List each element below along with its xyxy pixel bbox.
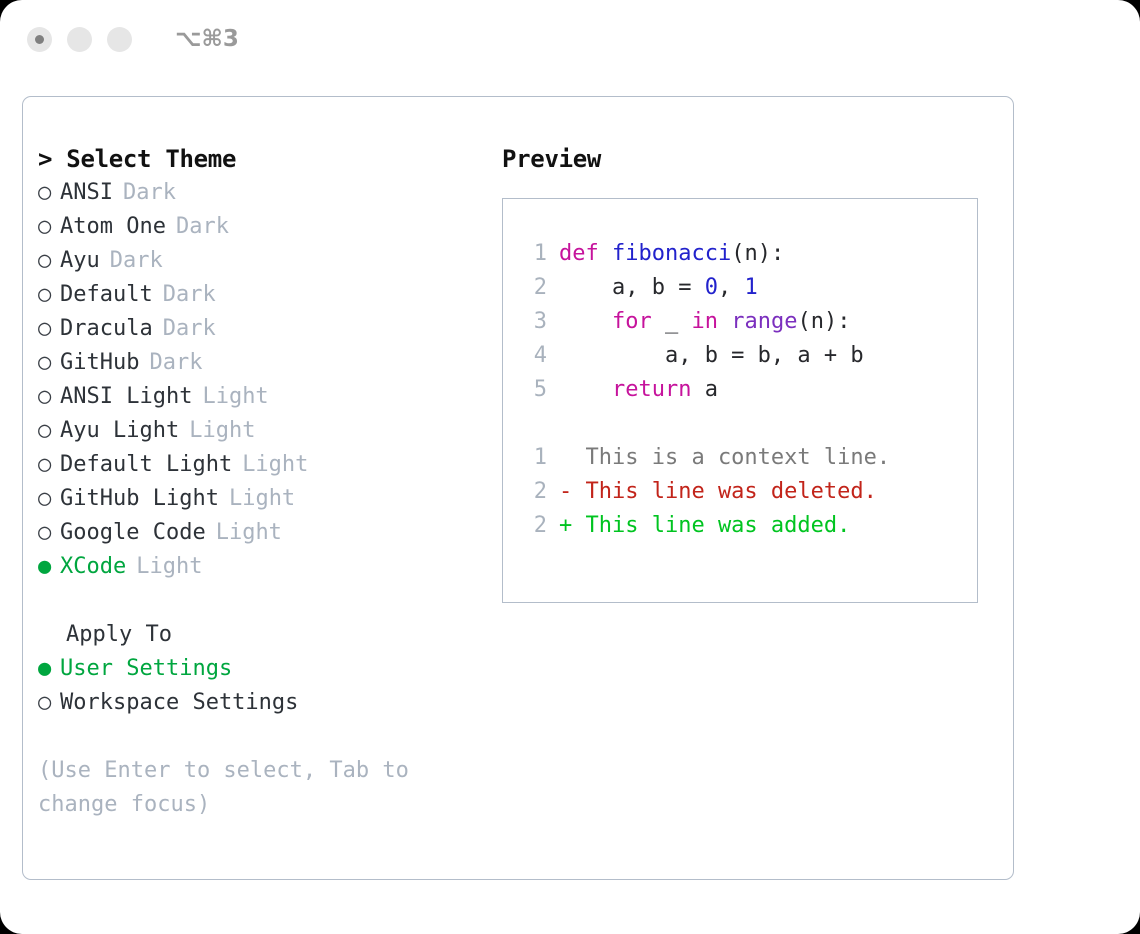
theme-option-label: Google Code	[60, 516, 206, 550]
terminal-window: ⌥⌘3 > Select Theme ○ANSIDark○Atom OneDar…	[0, 0, 1140, 934]
theme-option-label: Atom One	[60, 210, 166, 244]
code-line-text: return a	[559, 373, 718, 407]
code-token-kw: return	[612, 377, 691, 402]
section-spacer	[38, 584, 488, 618]
theme-variant-badge: Dark	[110, 244, 163, 278]
code-line: 5 return a	[521, 373, 977, 407]
code-line-number: 4	[521, 339, 547, 373]
code-token-pl	[559, 377, 612, 402]
code-line: 2 a, b = 0, 1	[521, 271, 977, 305]
code-token-pl	[718, 309, 731, 334]
theme-variant-badge: Light	[216, 516, 282, 550]
code-line-number: 3	[521, 305, 547, 339]
apply-to-option-user-settings[interactable]: ●User Settings	[38, 652, 488, 686]
theme-variant-badge: Light	[136, 550, 202, 584]
theme-option-default-light[interactable]: ○Default LightLight	[38, 448, 488, 482]
theme-option-label: ANSI Light	[60, 380, 192, 414]
theme-option-xcode[interactable]: ●XCodeLight	[38, 550, 488, 584]
diff-line-text: + This line was added.	[559, 509, 850, 543]
apply-to-option-label: Workspace Settings	[60, 686, 298, 720]
code-token-pl: a, b =	[559, 275, 705, 300]
code-line-text: for _ in range(n):	[559, 305, 850, 339]
code-line: 1def fibonacci(n):	[521, 237, 977, 271]
content-panel: > Select Theme ○ANSIDark○Atom OneDark○Ay…	[22, 96, 1014, 880]
apply-to-option-workspace-settings[interactable]: ○Workspace Settings	[38, 686, 488, 720]
code-diff-spacer	[521, 407, 977, 441]
theme-option-github[interactable]: ○GitHubDark	[38, 346, 488, 380]
radio-selected-icon: ●	[38, 550, 60, 584]
code-token-num: 0	[705, 275, 718, 300]
diff-line-number: 2	[521, 475, 547, 509]
theme-variant-badge: Dark	[163, 278, 216, 312]
code-token-pl: (n):	[731, 241, 784, 266]
code-line-number: 1	[521, 237, 547, 271]
theme-variant-badge: Light	[242, 448, 308, 482]
code-token-num: 1	[744, 275, 757, 300]
radio-unselected-icon: ○	[38, 380, 60, 414]
code-token-pl	[599, 241, 612, 266]
diff-sample: 1 This is a context line.2- This line wa…	[521, 441, 977, 543]
theme-option-label: GitHub	[60, 346, 139, 380]
code-token-bi: range	[731, 309, 797, 334]
theme-selector-column: > Select Theme ○ANSIDark○Atom OneDark○Ay…	[38, 142, 488, 822]
window-dot-second[interactable]	[67, 27, 92, 52]
theme-option-ayu-light[interactable]: ○Ayu LightLight	[38, 414, 488, 448]
radio-unselected-icon: ○	[38, 346, 60, 380]
code-line-text: a, b = b, a + b	[559, 339, 864, 373]
window-dot-active[interactable]	[27, 27, 52, 52]
code-token-kw: def	[559, 241, 599, 266]
code-token-pl: (n):	[797, 309, 850, 334]
theme-option-label: Dracula	[60, 312, 153, 346]
radio-unselected-icon: ○	[38, 686, 60, 720]
code-line-number: 2	[521, 271, 547, 305]
theme-variant-badge: Dark	[163, 312, 216, 346]
radio-selected-icon: ●	[38, 652, 60, 686]
diff-line-ctx: 1 This is a context line.	[521, 441, 977, 475]
radio-unselected-icon: ○	[38, 516, 60, 550]
code-token-pl: _	[652, 309, 692, 334]
diff-line-del: 2- This line was deleted.	[521, 475, 977, 509]
code-line: 4 a, b = b, a + b	[521, 339, 977, 373]
preview-box: 1def fibonacci(n):2 a, b = 0, 13 for _ i…	[502, 198, 978, 603]
radio-unselected-icon: ○	[38, 482, 60, 516]
diff-line-number: 1	[521, 441, 547, 475]
diff-line-text: This is a context line.	[559, 441, 890, 475]
theme-list[interactable]: ○ANSIDark○Atom OneDark○AyuDark○DefaultDa…	[38, 176, 488, 584]
code-token-kw: in	[691, 309, 718, 334]
theme-variant-badge: Light	[229, 482, 295, 516]
code-line-number: 5	[521, 373, 547, 407]
theme-variant-badge: Dark	[176, 210, 229, 244]
diff-line-text: - This line was deleted.	[559, 475, 877, 509]
radio-unselected-icon: ○	[38, 244, 60, 278]
theme-option-label: Default Light	[60, 448, 232, 482]
select-theme-heading: > Select Theme	[38, 142, 488, 176]
theme-option-label: Ayu Light	[60, 414, 179, 448]
code-token-kw: for	[612, 309, 652, 334]
radio-unselected-icon: ○	[38, 176, 60, 210]
theme-option-github-light[interactable]: ○GitHub LightLight	[38, 482, 488, 516]
radio-unselected-icon: ○	[38, 414, 60, 448]
radio-unselected-icon: ○	[38, 210, 60, 244]
radio-unselected-icon: ○	[38, 448, 60, 482]
code-line-text: def fibonacci(n):	[559, 237, 784, 271]
theme-option-default[interactable]: ○DefaultDark	[38, 278, 488, 312]
theme-option-ayu[interactable]: ○AyuDark	[38, 244, 488, 278]
theme-option-label: ANSI	[60, 176, 113, 210]
theme-option-dracula[interactable]: ○DraculaDark	[38, 312, 488, 346]
diff-line-add: 2+ This line was added.	[521, 509, 977, 543]
keyboard-shortcut-label: ⌥⌘3	[175, 26, 239, 52]
title-bar: ⌥⌘3	[0, 0, 1140, 78]
code-token-pl: a, b = b, a + b	[559, 343, 864, 368]
radio-unselected-icon: ○	[38, 312, 60, 346]
code-token-fn: fibonacci	[612, 241, 731, 266]
theme-variant-badge: Dark	[123, 176, 176, 210]
radio-unselected-icon: ○	[38, 278, 60, 312]
theme-option-label: XCode	[60, 550, 126, 584]
theme-option-google-code[interactable]: ○Google CodeLight	[38, 516, 488, 550]
theme-option-label: GitHub Light	[60, 482, 219, 516]
apply-to-list[interactable]: ●User Settings○Workspace Settings	[38, 652, 488, 720]
code-line-text: a, b = 0, 1	[559, 271, 758, 305]
preview-heading: Preview	[502, 142, 992, 176]
apply-to-option-label: User Settings	[60, 652, 232, 686]
theme-option-label: Ayu	[60, 244, 100, 278]
preview-column: Preview 1def fibonacci(n):2 a, b = 0, 13…	[502, 142, 992, 603]
diff-line-number: 2	[521, 509, 547, 543]
theme-option-ansi-light[interactable]: ○ANSI LightLight	[38, 380, 488, 414]
code-token-pl: a	[691, 377, 718, 402]
theme-option-atom-one[interactable]: ○Atom OneDark	[38, 210, 488, 244]
code-sample: 1def fibonacci(n):2 a, b = 0, 13 for _ i…	[521, 237, 977, 407]
theme-option-label: Default	[60, 278, 153, 312]
code-token-pl: ,	[718, 275, 745, 300]
theme-variant-badge: Light	[189, 414, 255, 448]
theme-option-ansi[interactable]: ○ANSIDark	[38, 176, 488, 210]
theme-variant-badge: Light	[202, 380, 268, 414]
apply-to-heading: Apply To	[38, 618, 488, 652]
theme-variant-badge: Dark	[149, 346, 202, 380]
window-dot-active-inner	[35, 35, 44, 44]
code-token-pl	[559, 309, 612, 334]
keyboard-hint-text: (Use Enter to select, Tab to change focu…	[38, 754, 448, 822]
window-dot-third[interactable]	[107, 27, 132, 52]
code-line: 3 for _ in range(n):	[521, 305, 977, 339]
